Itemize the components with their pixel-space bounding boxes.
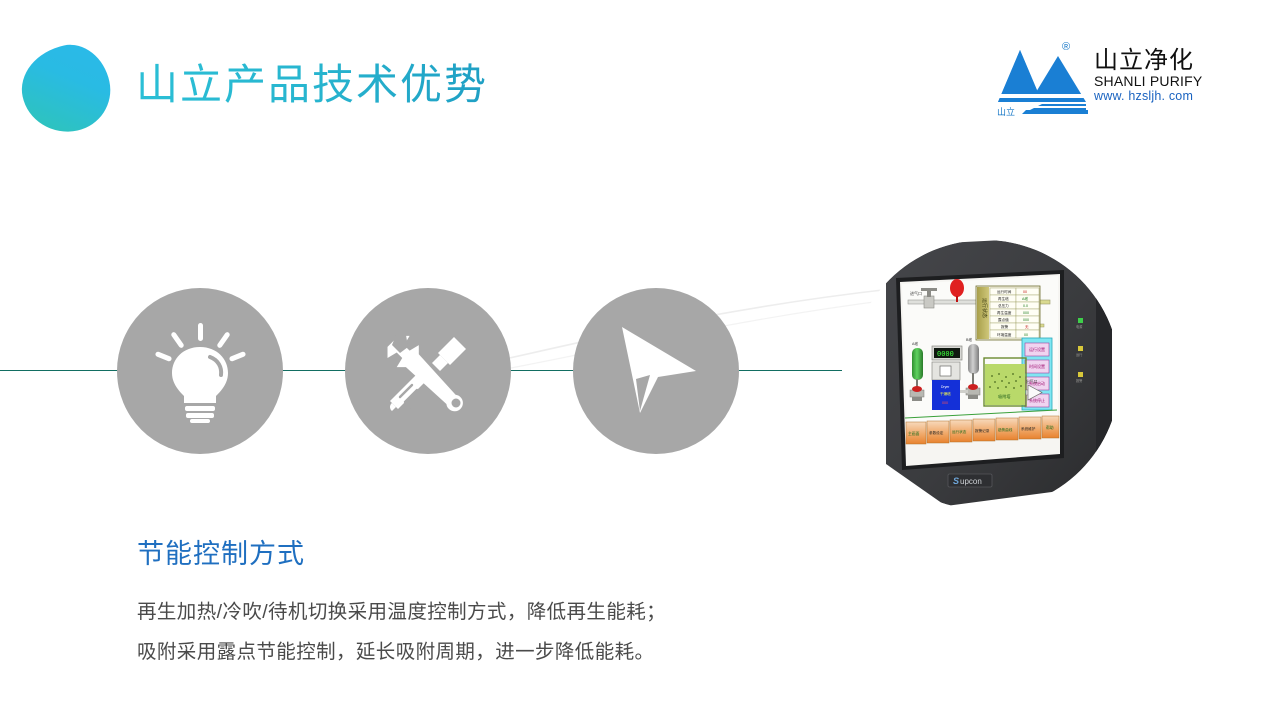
svg-text:系统维护: 系统维护 (1021, 426, 1036, 431)
svg-text:00: 00 (1024, 333, 1028, 337)
svg-text:环境温度: 环境温度 (997, 332, 1012, 337)
svg-text:0.0: 0.0 (1023, 304, 1028, 308)
svg-text:报警: 报警 (1076, 378, 1083, 383)
svg-text:A塔: A塔 (912, 341, 918, 346)
mountain-logo-icon (996, 44, 1088, 116)
svg-text:S: S (953, 476, 959, 486)
svg-text:00: 00 (1023, 290, 1027, 294)
svg-text:时间设置: 时间设置 (1029, 363, 1045, 369)
svg-text:参数设定: 参数设定 (929, 430, 944, 435)
page-title: 山立产品技术优势 (136, 60, 488, 110)
section-body-copy: 再生加热/冷吹/待机切换采用温度控制方式，降低再生能耗； 吸附采用露点节能控制，… (137, 592, 897, 672)
body-line-2: 吸附采用露点节能控制，延长吸附周期，进一步降低能耗。 (137, 632, 897, 672)
svg-text:进气口: 进气口 (910, 290, 922, 296)
svg-text:总压力: 总压力 (998, 303, 1009, 308)
svg-text:000: 000 (1023, 318, 1029, 322)
svg-text:趋势曲线: 趋势曲线 (998, 427, 1013, 432)
hmi-control-panel-photo: 进气口 运行状态 (850, 240, 1120, 510)
feature-circle-innovation[interactable] (117, 288, 283, 454)
brand-name-cn: 山立净化 (1094, 48, 1222, 73)
svg-text:运行: 运行 (1076, 352, 1083, 357)
svg-text:吸附塔: 吸附塔 (998, 393, 1011, 400)
brand-mark-label: 山立 (997, 108, 1015, 117)
svg-text:0000: 0000 (937, 350, 954, 358)
brand-name-en: SHANLI PURIFY (1094, 73, 1222, 89)
svg-text:电源: 电源 (1076, 324, 1083, 329)
svg-text:无: 无 (1025, 325, 1029, 329)
svg-text:帮助: 帮助 (1046, 425, 1054, 430)
svg-text:运行状态: 运行状态 (952, 429, 967, 434)
svg-text:再生塔: 再生塔 (998, 296, 1009, 301)
svg-text:运行设置: 运行设置 (1029, 346, 1045, 352)
svg-text:运行时间: 运行时间 (997, 289, 1012, 294)
svg-text:B塔: B塔 (966, 337, 972, 342)
svg-text:000: 000 (1023, 311, 1029, 315)
svg-text:upcon: upcon (960, 477, 982, 486)
svg-text:000: 000 (942, 401, 948, 405)
decorative-blob-icon (14, 38, 118, 140)
svg-text:报警记录: 报警记录 (975, 428, 990, 433)
svg-text:出气口: 出气口 (1026, 379, 1038, 384)
feature-circle-control[interactable] (573, 288, 739, 454)
svg-text:运行状态: 运行状态 (981, 298, 988, 318)
brand-text-block: 山立净化 SHANLI PURIFY www. hzsljh. com (1094, 48, 1222, 104)
svg-text:A塔: A塔 (1022, 296, 1028, 301)
body-line-1: 再生加热/冷吹/待机切换采用温度控制方式，降低再生能耗； (137, 592, 897, 632)
svg-text:再生温度: 再生温度 (997, 310, 1012, 315)
svg-text:报警: 报警 (1001, 324, 1009, 329)
svg-text:Dryer: Dryer (941, 385, 950, 389)
brand-logo: ® 山立 山立净化 SHANLI PURIFY www. hzsljh. com (996, 40, 1218, 118)
svg-text:露点值: 露点值 (998, 317, 1009, 322)
svg-text:干燥塔: 干燥塔 (940, 391, 951, 396)
feature-circle-tools[interactable] (345, 288, 511, 454)
svg-text:主画面: 主画面 (908, 431, 920, 436)
section-sub-heading: 节能控制方式 (137, 538, 305, 570)
brand-website-url: www. hzsljh. com (1094, 89, 1222, 104)
registered-trademark-icon: ® (1062, 42, 1070, 53)
